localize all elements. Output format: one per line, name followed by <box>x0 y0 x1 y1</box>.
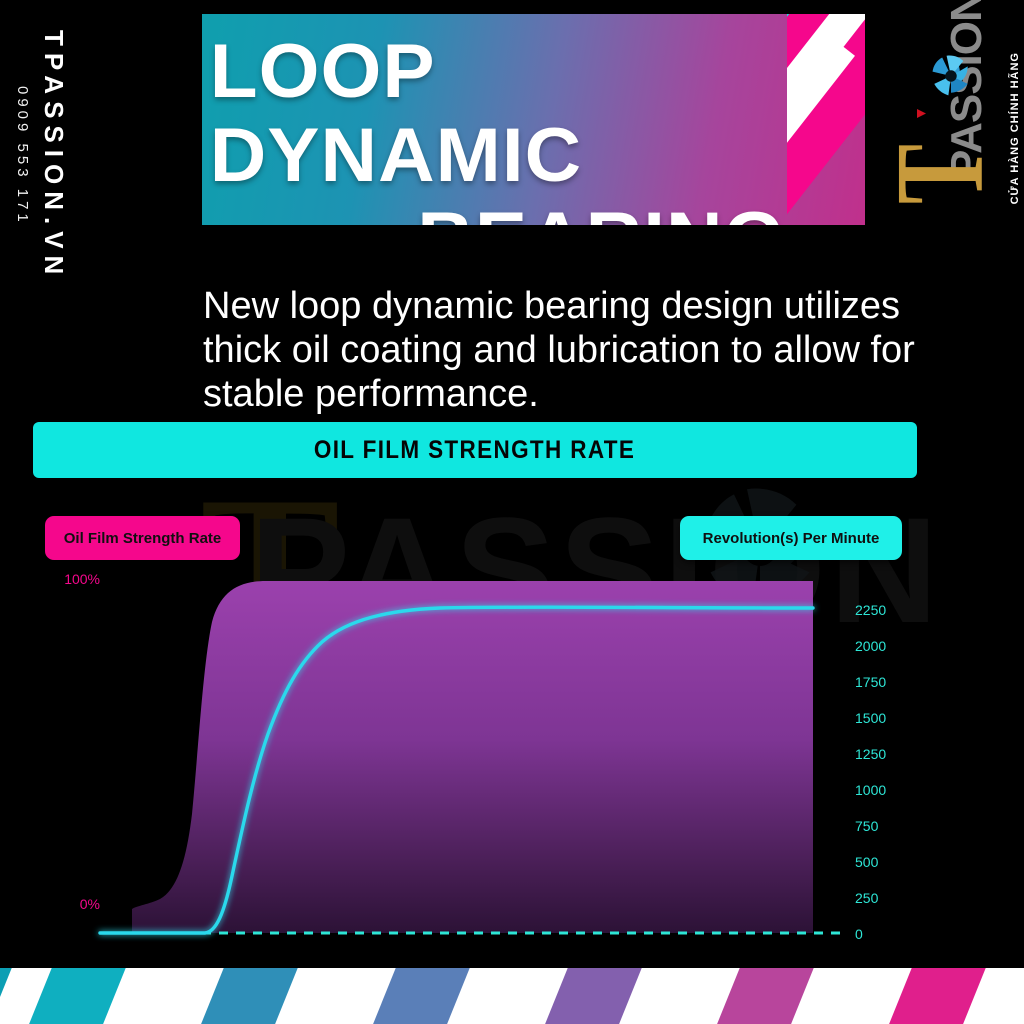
brand-name: TPASSION.VN <box>38 30 69 281</box>
section-title-bar: OIL FILM STRENGTH RATE <box>33 422 917 478</box>
footer-stripe <box>367 968 476 1024</box>
banner-line-1: LOOP DYNAMIC <box>202 30 786 198</box>
axis-right-tick-1750: 1750 <box>855 674 925 690</box>
footer-stripe <box>0 968 17 1024</box>
series-area-oil-film-strength-rate <box>132 581 813 933</box>
axis-right-tick-750: 750 <box>855 818 925 834</box>
footer-stripe <box>23 968 132 1024</box>
banner-title: LOOP DYNAMIC BEARING <box>202 14 787 225</box>
aperture-icon <box>929 54 973 98</box>
brand-logo: PASSION T CỬA HÀNG CHÍNH HÃNG <box>905 14 1017 229</box>
section-title-label: OIL FILM STRENGTH RATE <box>314 436 635 465</box>
brand-phone: 0909 553 171 <box>14 86 31 226</box>
footer-stripe <box>883 968 992 1024</box>
banner-line-2: BEARING <box>202 198 786 225</box>
footer-stripe-band <box>0 968 1024 1024</box>
axis-right-tick-500: 500 <box>855 854 925 870</box>
footer-stripe <box>195 968 304 1024</box>
axis-left-tick-100: 100% <box>40 571 100 587</box>
chart-container: T PASSION 0909 553 171 - TPASSION.VN Oil… <box>0 484 1024 968</box>
axis-right-tick-2000: 2000 <box>855 638 925 654</box>
logo-subtitle: CỬA HÀNG CHÍNH HÃNG <box>1009 52 1021 204</box>
axis-right-tick-1500: 1500 <box>855 710 925 726</box>
headline-paragraph: New loop dynamic bearing design utilizes… <box>203 284 963 416</box>
axis-right-tick-250: 250 <box>855 890 925 906</box>
footer-stripe <box>539 968 648 1024</box>
banner: LOOP DYNAMIC BEARING <box>202 14 865 225</box>
axis-right-tick-2250: 2250 <box>855 602 925 618</box>
axis-right-tick-1000: 1000 <box>855 782 925 798</box>
axis-right-tick-1250: 1250 <box>855 746 925 762</box>
footer-stripe <box>711 968 820 1024</box>
axis-left-tick-0: 0% <box>40 896 100 912</box>
axis-right-tick-0: 0 <box>855 926 925 942</box>
banner-stripe-decoration <box>787 14 865 225</box>
logo-accent-triangle <box>917 109 926 118</box>
logo-initial: T <box>885 144 997 204</box>
